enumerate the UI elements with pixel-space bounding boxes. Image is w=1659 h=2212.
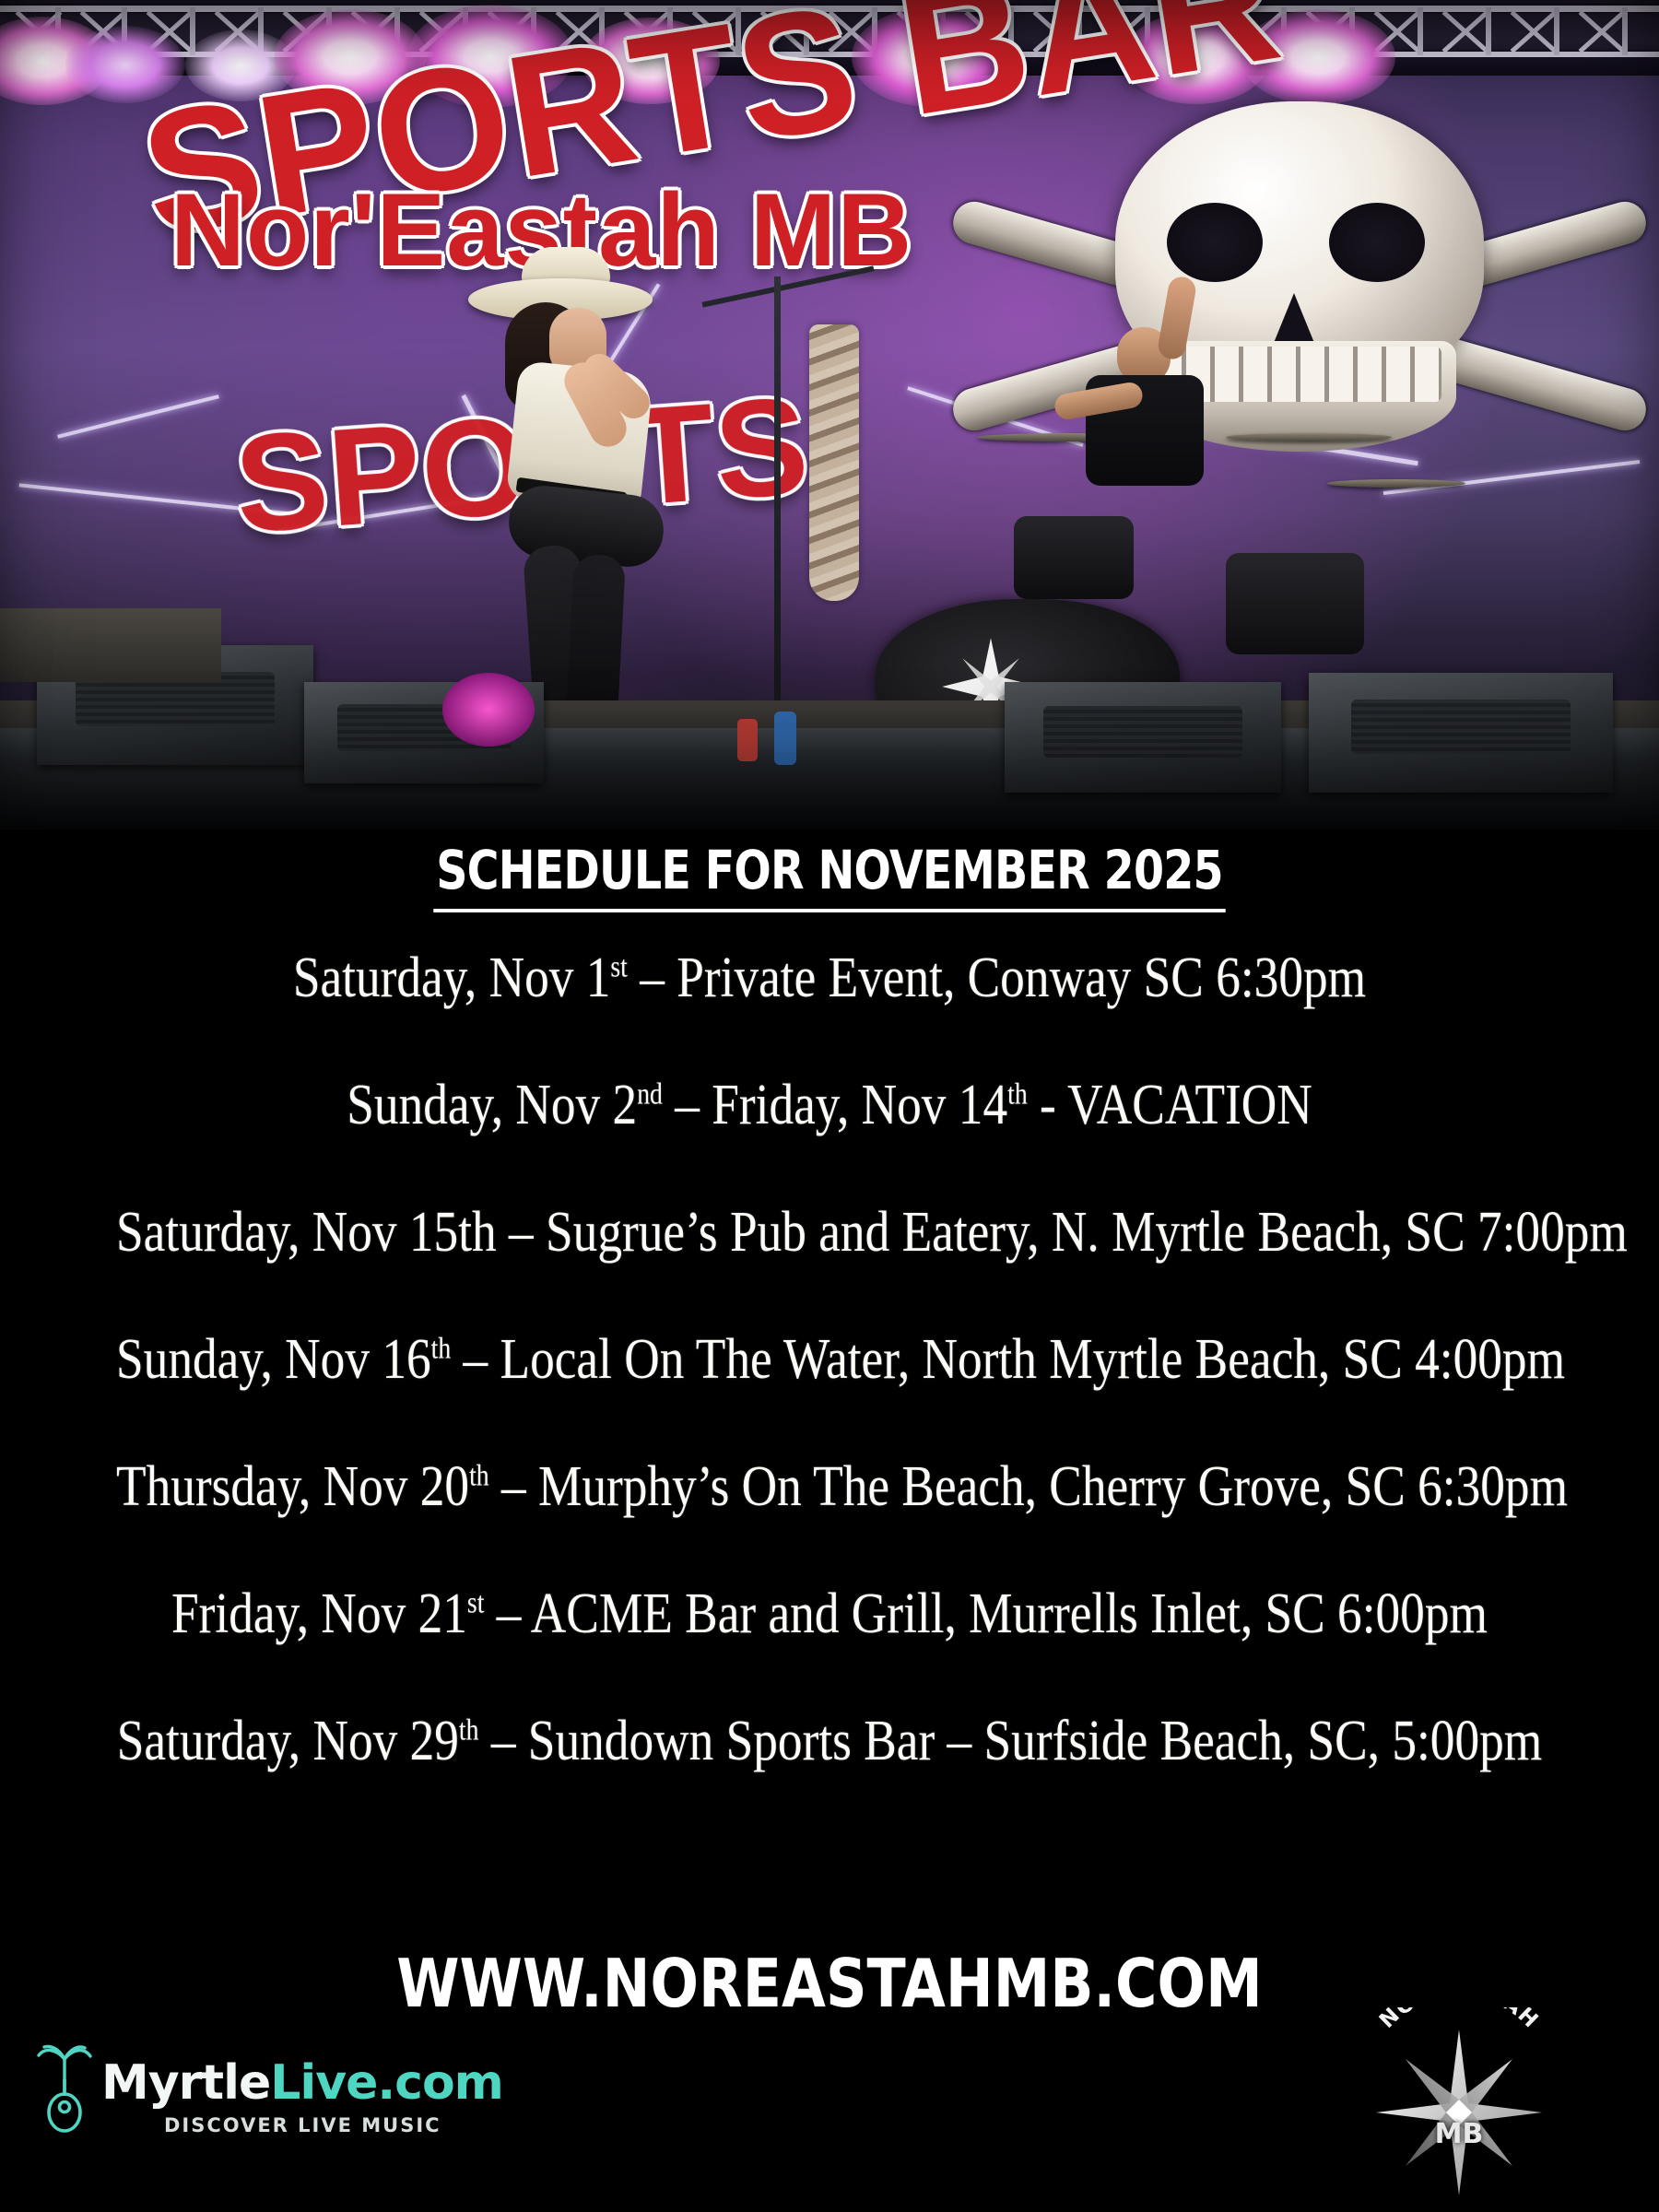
- schedule-item-ordinal: st: [610, 949, 628, 982]
- live-band-stage-photo: SPORTS BAR Nor'Eastah MB SPORTS: [0, 0, 1659, 829]
- website-url[interactable]: WWW.NOREASTAHMB.COM: [116, 1945, 1543, 2022]
- schedule-item-ordinal-2: th: [1007, 1077, 1028, 1110]
- band-logo-subtext: MB: [1353, 2118, 1565, 2150]
- schedule-item: Saturday, Nov 29th – Sundown Sports Bar …: [116, 1712, 1543, 1770]
- schedule-item-ordinal: th: [431, 1331, 452, 1364]
- floor-light: [442, 673, 535, 747]
- drummer: [1060, 327, 1263, 548]
- schedule-item-details: – Murphy’s On The Beach, Cherry Grove, S…: [489, 1455, 1568, 1518]
- schedule-item-ordinal: st: [467, 1585, 485, 1618]
- drink-cup: [737, 719, 758, 761]
- schedule-item: Thursday, Nov 20th – Murphy’s On The Bea…: [116, 1458, 1543, 1515]
- myrtlelive-word-1: Myrtle: [101, 2055, 270, 2111]
- floor-tom: [1226, 553, 1364, 654]
- schedule-item-day: Thursday, Nov 20: [116, 1455, 469, 1518]
- schedule-item-details: – Sundown Sports Bar – Surfside Beach, S…: [478, 1710, 1542, 1772]
- mic-stand-scarf: [809, 324, 859, 601]
- compass-star-icon: [1367, 2020, 1551, 2205]
- schedule-item-day: Saturday, Nov 1: [293, 947, 611, 1009]
- schedule-item-details-2: - VACATION: [1028, 1074, 1312, 1136]
- schedule-list: Saturday, Nov 1st – Private Event, Conwa…: [0, 949, 1659, 1840]
- mic-stand: [774, 276, 781, 774]
- myrtlelive-tagline: DISCOVER LIVE MUSIC: [164, 2114, 441, 2136]
- palm-tree-guitar-icon: [31, 2039, 98, 2135]
- schedule-item-day: Saturday, Nov 15th: [116, 1201, 497, 1264]
- myrtlelive-logo[interactable]: MyrtleLive.com DISCOVER LIVE MUSIC: [26, 2037, 459, 2166]
- stage-monitor: [1005, 682, 1281, 793]
- schedule-item-day: Friday, Nov 21: [171, 1583, 467, 1645]
- stage-monitor: [1309, 673, 1613, 793]
- schedule-item-ordinal: th: [459, 1712, 479, 1746]
- schedule-item: Saturday, Nov 15th – Sugrue’s Pub and Ea…: [116, 1204, 1543, 1261]
- schedule-item-details: – Local On The Water, North Myrtle Beach…: [451, 1328, 1565, 1391]
- schedule-item-day: Sunday, Nov 16: [116, 1328, 431, 1391]
- schedule-item: Friday, Nov 21st – ACME Bar and Grill, M…: [116, 1585, 1543, 1642]
- schedule-item: Saturday, Nov 1st – Private Event, Conwa…: [116, 949, 1543, 1006]
- schedule-item-day: Sunday, Nov 2: [347, 1074, 637, 1136]
- schedule-item-day: Saturday, Nov 29: [117, 1710, 459, 1772]
- myrtlelive-word-2: Live.com: [270, 2055, 503, 2111]
- schedule-item: Sunday, Nov 16th – Local On The Water, N…: [116, 1331, 1543, 1388]
- schedule-item-details: – Sugrue’s Pub and Eatery, N. Myrtle Bea…: [497, 1201, 1628, 1264]
- stage-case: [0, 608, 221, 682]
- page-title: SCHEDULE FOR NOVEMBER 2025: [149, 839, 1510, 912]
- schedule-item: Sunday, Nov 2nd – Friday, Nov 14th - VAC…: [116, 1077, 1543, 1134]
- water-bottle: [774, 712, 796, 765]
- poster-root: SPORTS BAR Nor'Eastah MB SPORTS: [0, 0, 1659, 2212]
- schedule-item-details: – Friday, Nov 14: [663, 1074, 1007, 1136]
- schedule-item-details: – Private Event, Conway SC 6:30pm: [628, 947, 1366, 1009]
- page-title-text: SCHEDULE FOR NOVEMBER 2025: [433, 839, 1226, 912]
- schedule-item-ordinal: th: [469, 1458, 489, 1491]
- hi-hat: [1327, 479, 1465, 488]
- schedule-item-ordinal: nd: [637, 1077, 663, 1110]
- myrtlelive-wordmark: MyrtleLive.com: [101, 2055, 503, 2111]
- schedule-item-details: – ACME Bar and Grill, Murrells Inlet, SC…: [484, 1583, 1488, 1645]
- band-logo[interactable]: NOR'EASTAH MB: [1353, 2007, 1565, 2192]
